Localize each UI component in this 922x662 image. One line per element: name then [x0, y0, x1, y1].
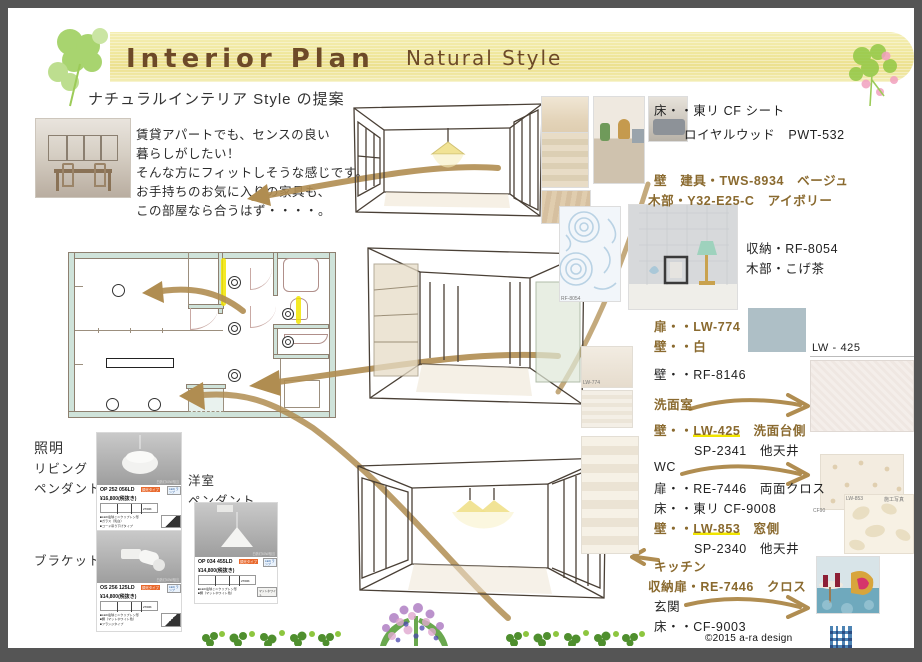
flow-arrow-2	[128, 273, 248, 323]
page-subtitle-style: Natural Style	[406, 46, 562, 70]
catalog-price-1: ¥16,800(税抜き)	[100, 495, 136, 502]
intro-line-1: 賃貸アパートでも、センスの良い	[136, 126, 369, 145]
spec-senmen-wall-prefix: 壁・・	[654, 424, 693, 438]
catalog-notes-3: ■LED電球ミニクリプトン形■鋼（マットホワイト色）■フランジタイプ	[100, 613, 139, 626]
spec-wc-wall-prefix: 壁・・	[654, 522, 693, 536]
flow-arrow-washroom	[688, 393, 813, 419]
catalog-spec-table-1: 2700K	[100, 503, 158, 513]
catalog-tax-note-1: (税抜き)	[118, 496, 136, 502]
spec-wc-wall-suffix: 窓側	[740, 522, 779, 536]
lighting-youshitsu-label: 洋室	[188, 470, 215, 489]
subtitle-text: ナチュラルインテリア Style の提案	[88, 88, 345, 109]
clover-border-left-icon	[194, 628, 344, 646]
catalog-spec-table-2: 2700K	[198, 575, 256, 585]
swatch-plank-wood	[581, 436, 639, 554]
catalog-swatch-2: マットホワイト	[257, 587, 277, 597]
catalog-lamp-box-3: LED ランプ	[167, 584, 181, 593]
swatch-interior-lamp-photo	[628, 204, 738, 310]
swatch-label-cf90: CF90	[813, 508, 825, 514]
header-banner: Interior Plan Natural Style	[110, 32, 914, 82]
catalog-badge-1: 調光タイプ	[141, 487, 160, 492]
lighting-heading: 照明	[34, 438, 64, 458]
flower-bouquet-icon	[360, 600, 470, 648]
swatch-label-rf8054: RF-8054	[561, 296, 580, 302]
swatch-flooring-wood-lower	[541, 132, 589, 188]
catalog-tax-note-3: (税抜き)	[118, 594, 136, 600]
spec-floor-main-1: 床・・東リ CF シート	[654, 100, 785, 119]
catalog-price-3: ¥14,800(税抜き)	[100, 593, 136, 600]
swatch-label-divider	[810, 356, 914, 357]
spec-wc-ceiling: SP-2340 他天井	[694, 538, 799, 557]
perspective-sketch-kitchen	[360, 238, 590, 418]
catalog-notes-1: ■LED電球ミニクリプトン形■ガラス（乳白）■コード吊り下げタイプ	[100, 515, 139, 528]
swatch-label-actual-photo: 施工写真	[884, 496, 904, 503]
spec-door-lw774: 扉・・LW-774	[654, 316, 740, 335]
catalog-card-living-pendant[interactable]: 白熱灯60W相当 OP 252 056LD 調光タイプ LED ランプ ¥16,…	[96, 432, 182, 532]
spec-wc-door: 扉・・RE-7446 両面クロス	[654, 478, 825, 497]
spec-wc-wall-code: LW-853	[693, 522, 740, 536]
spec-storage-1: 収納・RF-8054	[746, 238, 838, 257]
catalog-notes-2: ■LED電球ミニクリプトン形■鋼（マットホワイト色）	[198, 587, 237, 596]
copyright-text: ©2015 a-ra design	[705, 633, 793, 644]
spec-senmen-ceiling: SP-2341 他天井	[694, 440, 799, 459]
catalog-kelvin-1: 2700K	[143, 507, 152, 511]
catalog-lamp-label-1: LED ランプ	[169, 488, 180, 495]
spec-wall-rf8146: 壁・・RF-8146	[654, 364, 746, 383]
spec-senmen-wall: 壁・・LW-425 洗面台側	[654, 420, 806, 439]
catalog-price-value-2: ¥14,800	[198, 568, 216, 574]
catalog-code-3: OS 256 125LD	[100, 585, 135, 591]
lighting-bracket-label: ブラケット	[34, 550, 102, 569]
catalog-badge-2: 調光タイプ	[239, 559, 258, 564]
page-title: Interior Plan	[126, 44, 375, 74]
spec-storage-2: 木部・こげ茶	[746, 258, 825, 277]
spec-floor-main-2: ロイヤルウッド PWT-532	[684, 124, 845, 143]
perspective-sketch-living	[344, 96, 552, 226]
catalog-price-2: ¥14,800(税抜き)	[198, 567, 234, 574]
clover-border-right-icon	[498, 628, 648, 646]
spec-senmenshitsu-heading: 洗面室	[654, 394, 693, 413]
catalog-swatch-1	[161, 515, 181, 528]
reference-room-photo	[35, 118, 131, 198]
perspective-sketch-bedroom	[352, 448, 612, 608]
swatch-label-lw853: LW-853	[846, 496, 863, 502]
spec-wall-tategu: 壁 建具・TWS-8934 ベージュ	[654, 170, 848, 189]
swatch-lw774-color	[748, 308, 806, 352]
swatch-lw425-color	[810, 360, 914, 432]
flower-decoration-icon	[840, 40, 914, 110]
spec-kitchen-heading: キッチン	[654, 556, 706, 575]
spec-senmen-wall-suffix: 洗面台側	[740, 424, 806, 438]
presentation-board: Interior Plan Natural Style ナチュラルインテリア S…	[8, 8, 914, 648]
catalog-price-value-3: ¥14,800	[100, 594, 118, 600]
catalog-card-bracket[interactable]: 白熱灯60W相当 OS 256 125LD 調光タイプ LED ランプ ¥14,…	[96, 530, 182, 632]
photo-chairs-interior	[816, 556, 880, 614]
spec-wall-mokubu: 木部・Y32-E25-C アイボリー	[648, 190, 833, 209]
catalog-lamp-label-3: LED ランプ	[169, 586, 180, 593]
spec-genkan-heading: 玄関	[654, 596, 680, 615]
catalog-kelvin-3: 2700K	[143, 605, 152, 609]
lighting-living-label: リビング	[34, 458, 88, 477]
spec-wc-wall: 壁・・LW-853 窓側	[654, 518, 780, 537]
spec-kitchen-door: 収納扉・RE-7446 クロス	[648, 576, 806, 595]
catalog-spec-table-3: 2700K	[100, 601, 158, 611]
catalog-badge-3: 調光タイプ	[141, 585, 160, 590]
catalog-kelvin-2: 2700K	[241, 579, 250, 583]
swatch-living-photo	[593, 96, 645, 184]
catalog-code-1: OP 252 056LD	[100, 487, 135, 493]
qr-code	[830, 626, 852, 648]
swatch-wall-sample-b	[581, 390, 633, 428]
swatch-lw853-pattern	[844, 494, 914, 554]
spec-senmen-wall-code: LW-425	[693, 424, 740, 438]
swatch-label-lw425: LW - 425	[812, 342, 861, 354]
spec-wc-floor: 床・・東リ CF-9008	[654, 498, 776, 517]
catalog-swatch-3	[161, 613, 181, 627]
catalog-price-value-1: ¥16,800	[100, 496, 118, 502]
catalog-card-bedroom-pendant[interactable]: 白熱灯60W相当 OP 034 455LD 調光タイプ LED ランプ ¥14,…	[194, 502, 278, 604]
spec-wall-white: 壁・・白	[654, 336, 706, 355]
spec-wc-heading: WC	[654, 460, 676, 474]
swatch-caption-a: LW-774	[583, 380, 600, 386]
swatch-wallpaper-rf8054	[559, 206, 621, 302]
lighting-pendant-label: ペンダント	[34, 478, 102, 497]
catalog-tax-note-2: (税抜き)	[216, 568, 234, 574]
catalog-code-2: OP 034 455LD	[198, 559, 233, 565]
catalog-lamp-box-2: LED ランプ	[263, 558, 277, 567]
catalog-lamp-label-2: LED ランプ	[265, 560, 276, 567]
catalog-lamp-box-1: LED ランプ	[167, 486, 181, 495]
